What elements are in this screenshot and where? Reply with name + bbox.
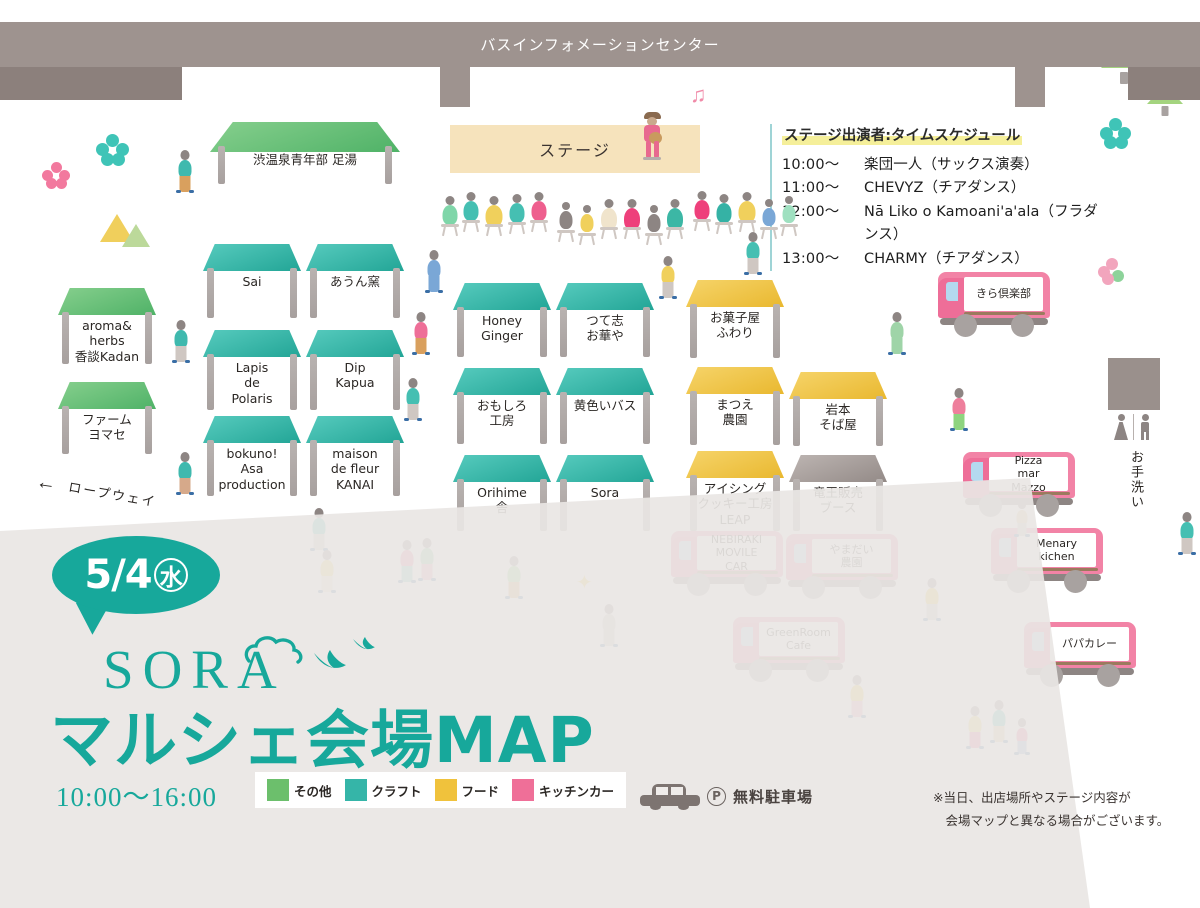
triangle-decor-icon [122,224,150,247]
restroom-women-icon [1114,414,1128,440]
bird-icon [312,648,348,679]
visitor-figure [176,452,194,498]
ropeway-arrow-icon: ← [34,471,57,497]
legend-item: その他 [267,779,332,801]
audience-seat [665,199,685,241]
audience-seat [645,205,663,245]
legend-swatch-kitchen-car [512,779,534,801]
booth-label: maison de fleur KANAI [306,446,404,492]
event-date-number: 5/4 [84,552,151,598]
stage-label: ステージ [539,137,611,161]
restroom-label: お手洗い [1126,450,1145,510]
schedule-act: 楽団一人（サックス演奏） [864,154,1039,177]
visitor-figure [950,388,968,434]
booth-tent-craft[interactable]: おもしろ 工房 [453,368,551,444]
audience-seat [692,191,712,233]
notice-line-1: ※当日、出店場所やステージ内容が [933,786,1195,809]
audience-seat [529,192,549,234]
booth-label: ファーム ヨマセ [58,412,156,443]
booth-tent-craft[interactable]: あうん窯 [306,244,404,318]
booth-tent-craft[interactable]: Lapis de Polaris [203,330,301,410]
audience-seat [714,194,734,236]
schedule-act: Nā Liko o Kamoani'a'ala（フラダンス） [864,201,1100,248]
legend-item: フード [435,779,500,801]
schedule-row: 10:00〜 楽団一人（サックス演奏） [782,154,1100,177]
booth-tent-craft[interactable]: Honey Ginger [453,283,551,357]
event-hours: 10:00〜16:00 [56,775,217,814]
flower-icon [1100,118,1132,150]
booth-tent-other[interactable]: 渋温泉青年部 足湯 [210,122,400,184]
booth-label: Dip Kapua [306,360,404,391]
booth-label: Lapis de Polaris [203,360,301,406]
audience-seat [440,196,460,238]
legend-label: フード [462,781,500,800]
booth-label: あうん窯 [306,274,404,289]
audience-seat [578,205,596,245]
audience-seat [780,196,798,236]
visitor-figure [412,312,430,358]
booth-label: Sora [556,485,654,500]
venue-map: バスインフォメーションセンター ♫ ステージ ステージ出演者:タイムスケジュール… [0,0,1200,855]
booth-label: おもしろ 工房 [453,398,551,429]
booth-label: お菓子屋 ふわり [686,310,784,341]
flower-icon [42,162,72,192]
kitchen-car[interactable]: きら倶楽部 [938,272,1050,338]
booth-tent-craft[interactable]: つて志 お華や [556,283,654,357]
legend-item: クラフト [345,779,422,801]
visitor-figure [425,250,443,296]
legend: その他 クラフト フード キッチンカー [255,772,626,808]
bus-information-center-label: バスインフォメーションセンター [480,34,719,55]
audience-seat [461,192,481,234]
legend-label: キッチンカー [539,781,614,800]
booth-tent-other[interactable]: aroma& herbs 香談Kadan [58,288,156,364]
schedule-row: 13:00〜 CHARMY（チアダンス） [782,248,1100,271]
visitor-figure [659,256,677,302]
legend-label: クラフト [372,781,422,800]
legend-label: その他 [294,781,332,800]
booth-tent-food[interactable]: お菓子屋 ふわり [686,280,784,358]
audience-seat [622,199,642,241]
building-column [1015,67,1045,107]
booth-tent-craft[interactable]: 黄色いバス [556,368,654,444]
music-note-icon: ♫ [690,82,707,108]
schedule-act: CHEVYZ（チアダンス） [864,177,1025,200]
legend-swatch-other [267,779,289,801]
booth-label: 渋温泉青年部 足湯 [210,152,400,167]
parking-info: P 無料駐車場 [640,782,813,810]
legend-swatch-food [435,779,457,801]
booth-label: Honey Ginger [453,313,551,344]
restroom-divider [1133,414,1134,440]
audience-seat [483,196,505,240]
schedule-panel: ステージ出演者:タイムスケジュール 10:00〜 楽団一人（サックス演奏） 11… [770,124,1100,271]
booth-label: bokuno! Asa production [203,446,301,492]
ropeway-label: ロープウェイ [67,476,158,510]
disclaimer-notice: ※当日、出店場所やステージ内容が 会場マップと異なる場合がございます。 [933,786,1195,832]
booth-label: 岩本 そば屋 [789,402,887,433]
booth-label: Sai [203,274,301,289]
audience-seat [557,202,575,242]
audience-seat [760,199,778,239]
flower-icon [96,134,130,168]
event-date-badge: 5/4 水 [52,536,220,614]
booth-label: 黄色いバス [556,398,654,413]
bird-icon [352,636,376,659]
visitor-figure [176,150,194,196]
restroom-men-icon [1138,414,1152,440]
parking-p-icon: P [707,787,726,806]
booth-tent-craft[interactable]: maison de fleur KANAI [306,416,404,496]
page-title: マルシェ会場MAP [50,690,595,781]
audience-seat [599,199,619,241]
schedule-time: 10:00〜 [782,154,864,177]
schedule-time: 13:00〜 [782,248,864,271]
flower-icon [1098,258,1128,288]
event-date-weekday: 水 [154,558,188,592]
booth-tent-craft[interactable]: Dip Kapua [306,330,404,410]
schedule-row: 12:00〜 Nā Liko o Kamoani'a'ala（フラダンス） [782,201,1100,248]
booth-label: まつえ 農園 [686,397,784,428]
notice-line-2: 会場マップと異なる場合がございます。 [933,809,1195,832]
booth-tent-other[interactable]: ファーム ヨマセ [58,382,156,454]
visitor-figure [404,378,422,424]
audience-seat [736,192,758,236]
schedule-title: ステージ出演者:タイムスケジュール [782,124,1022,145]
schedule-row: 11:00〜 CHEVYZ（チアダンス） [782,177,1100,200]
booth-tent-food[interactable]: まつえ 農園 [686,367,784,445]
booth-tent-craft[interactable]: bokuno! Asa production [203,416,301,496]
visitor-figure [1178,512,1196,558]
restroom-building [1108,358,1160,410]
kitchen-car-label: きら倶楽部 [964,277,1043,311]
bus-information-center-banner: バスインフォメーションセンター [0,22,1200,67]
kitchen-car-label: パパカレー [1050,627,1129,661]
visitor-figure [744,232,762,278]
building-column [440,67,470,107]
booth-tent-craft[interactable]: Sai [203,244,301,318]
legend-swatch-craft [345,779,367,801]
booth-tent-food[interactable]: 岩本 そば屋 [789,372,887,446]
schedule-act: CHARMY（チアダンス） [864,248,1029,271]
visitor-figure [888,312,906,358]
booth-label: aroma& herbs 香談Kadan [58,318,156,364]
audience-seat [507,194,527,236]
performer-guitarist-icon [639,112,665,168]
parking-label: 無料駐車場 [733,786,813,807]
legend-item: キッチンカー [512,779,614,801]
booth-label: つて志 お華や [556,313,654,344]
car-icon [640,782,700,810]
visitor-figure [172,320,190,366]
